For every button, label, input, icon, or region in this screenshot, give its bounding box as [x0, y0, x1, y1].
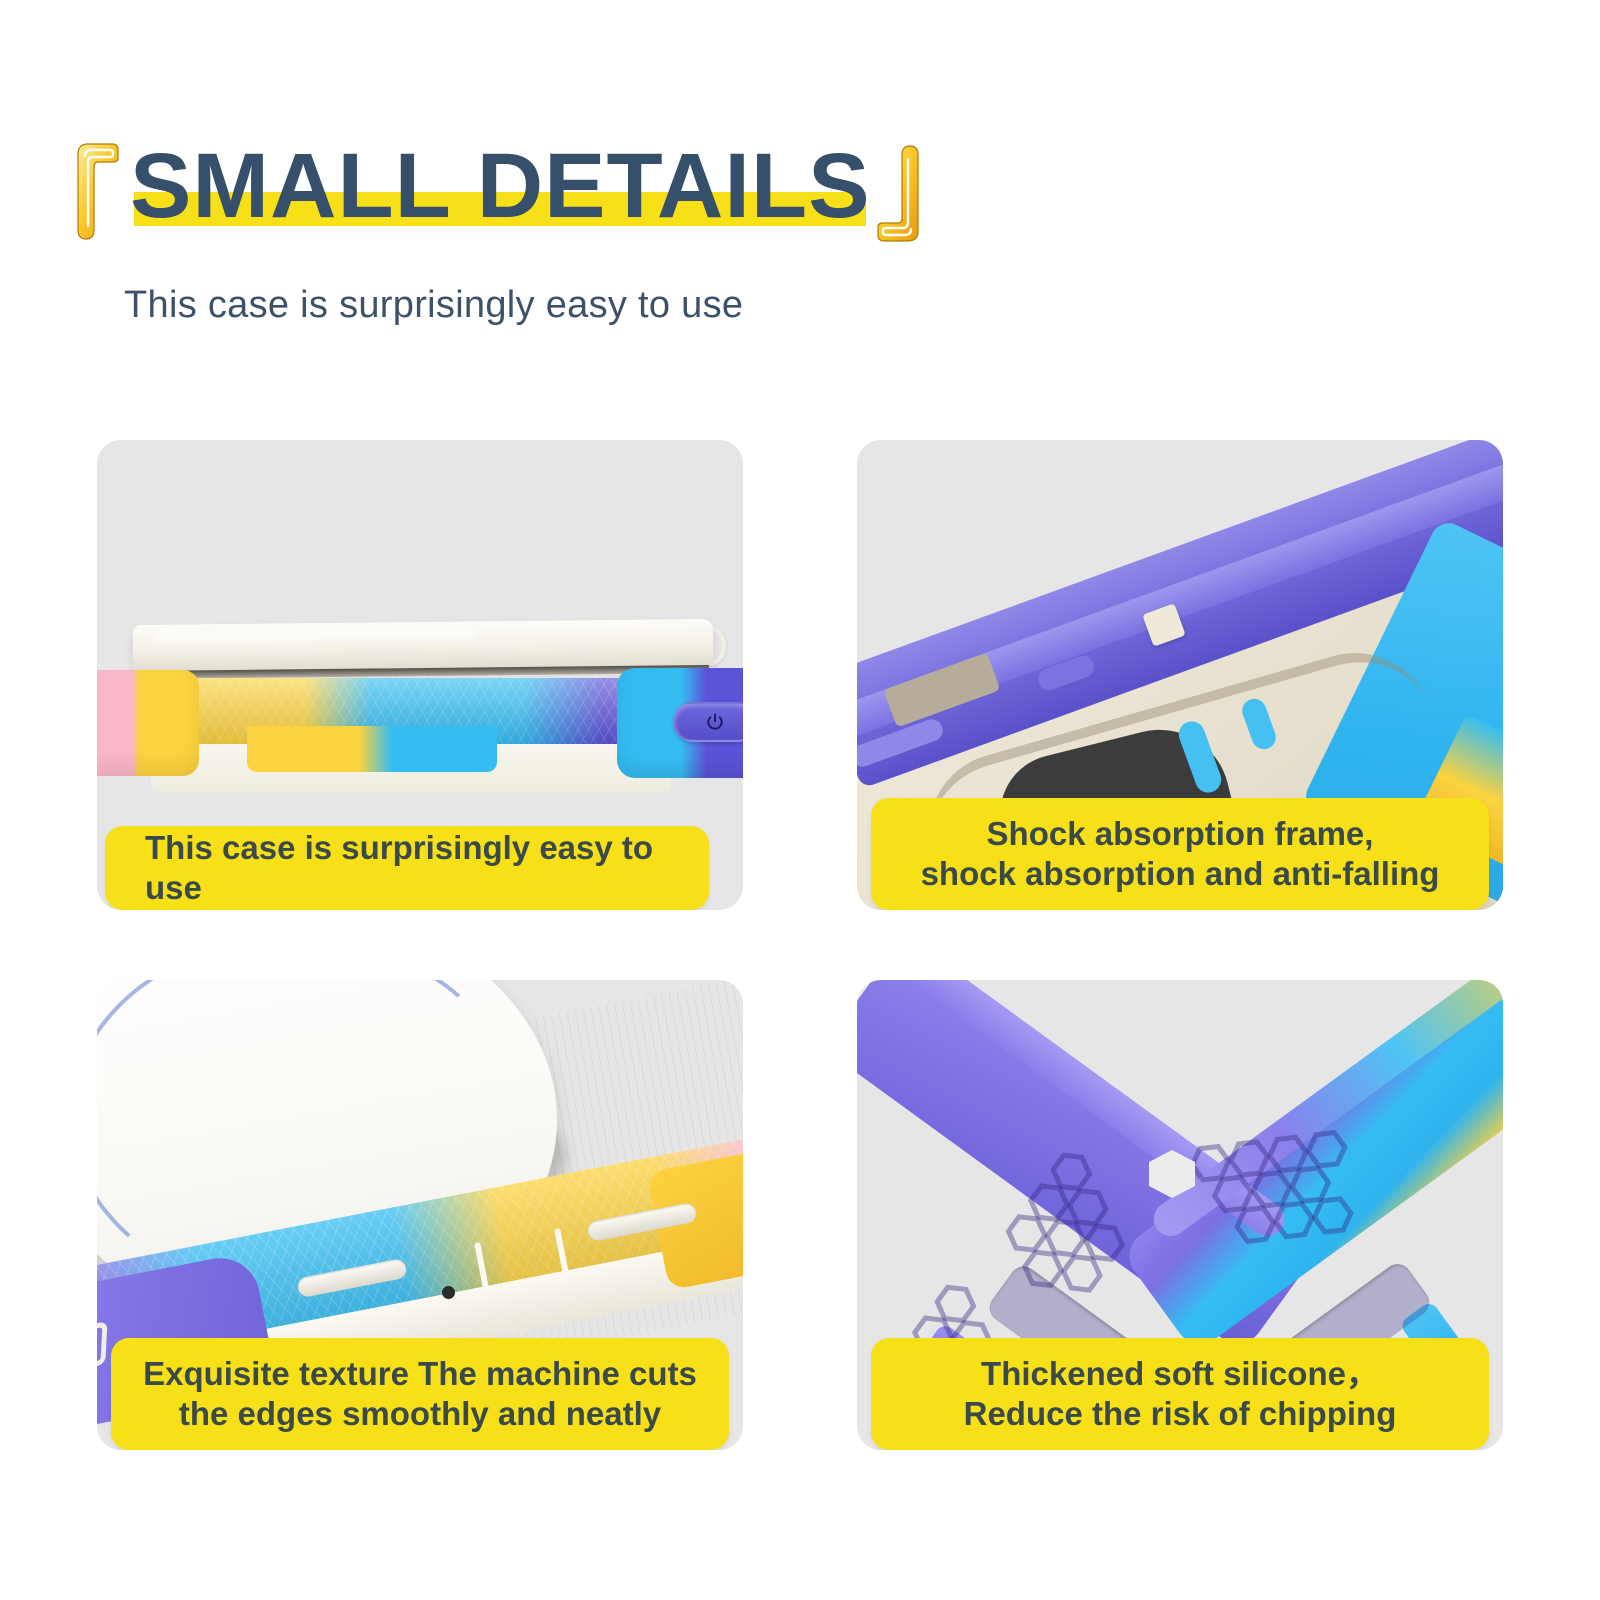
caption-line: the edges smoothly and neatly [143, 1394, 697, 1434]
panel-caption: Thickened soft silicone， Reduce the risk… [871, 1338, 1489, 1450]
panel-thickened-silicone: Thickened soft silicone， Reduce the risk… [857, 980, 1503, 1450]
caption-line: Exquisite texture The machine cuts [143, 1354, 697, 1394]
page-title: SMALL DETAILS [130, 135, 870, 237]
panel-caption: Shock absorption frame, shock absorption… [871, 798, 1489, 910]
corner-bracket-open-icon [72, 140, 120, 245]
page-subtitle: This case is surprisingly easy to use [124, 284, 743, 327]
corner-bracket-close-icon [876, 140, 924, 245]
caption-text: Thickened soft silicone， Reduce the risk… [964, 1354, 1397, 1435]
tablet-body [133, 619, 713, 671]
caption-line: Reduce the risk of chipping [964, 1394, 1397, 1434]
caption-text: Exquisite texture The machine cuts the e… [143, 1354, 697, 1435]
feature-panel-grid: This case is surprisingly easy to use HN… [97, 440, 1503, 1450]
caption-text: Shock absorption frame, shock absorption… [921, 814, 1440, 895]
panel-caption: This case is surprisingly easy to use [105, 826, 709, 910]
title-row: SMALL DETAILS [72, 140, 924, 245]
page-title-wrap: SMALL DETAILS [130, 140, 870, 234]
caption-line: shock absorption and anti-falling [921, 854, 1440, 894]
panel-exquisite-texture: Exquisite texture The machine cuts the e… [97, 980, 743, 1450]
caption-line: Thickened soft silicone， [964, 1354, 1397, 1394]
power-button [673, 702, 743, 742]
panel-shock-absorption: HN V8 PRO Shock absorption frame, shock … [857, 440, 1503, 910]
page-header: SMALL DETAILS This case is surprisingly … [0, 0, 1600, 420]
case-end-cap-left [97, 670, 199, 776]
case-shell-notch [247, 726, 497, 772]
panel-caption: Exquisite texture The machine cuts the e… [111, 1338, 729, 1450]
caption-line: Shock absorption frame, [921, 814, 1440, 854]
caption-line: This case is surprisingly easy to use [145, 828, 697, 909]
panel-ease-of-use: This case is surprisingly easy to use [97, 440, 743, 910]
power-icon [705, 712, 725, 732]
